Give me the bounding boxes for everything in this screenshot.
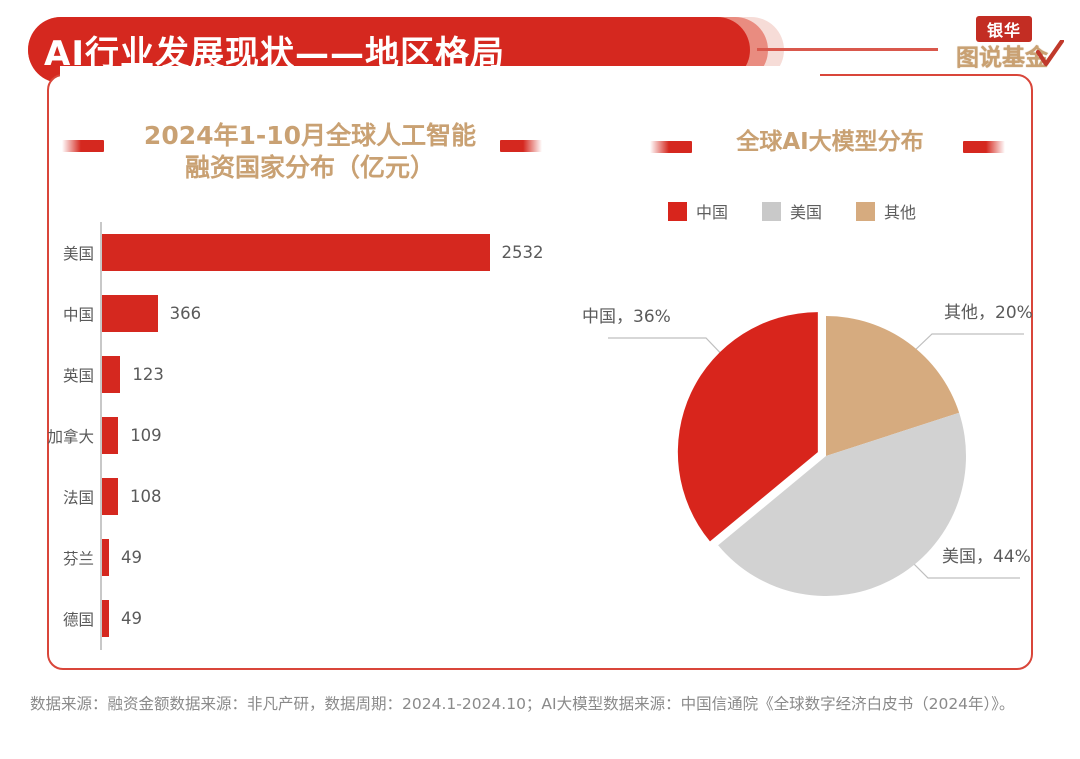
frame-top-gap	[60, 66, 820, 84]
legend-label-other: 其他	[884, 199, 916, 223]
bar-row: 英国123	[30, 344, 570, 405]
bar-fill	[102, 478, 119, 515]
bar-fill	[102, 539, 110, 576]
funding-bar-chart: 美国2532中国366英国123加拿大109法国108芬兰49德国49	[30, 222, 590, 652]
bar-value-label: 2532	[502, 222, 544, 283]
legend-swatch-usa	[762, 202, 781, 221]
legend-item-usa: 美国	[762, 199, 822, 223]
bar-fill	[102, 600, 110, 637]
bar-category-label: 芬兰	[30, 527, 94, 588]
title-dash-left-1	[62, 140, 104, 152]
bar-category-label: 中国	[30, 283, 94, 344]
bar-fill	[102, 417, 119, 454]
pie-svg	[580, 280, 1050, 640]
bar-value-label: 49	[121, 527, 142, 588]
title-dash-left-2	[500, 140, 542, 152]
bar-value-label: 49	[121, 588, 142, 649]
bar-row: 法国108	[30, 466, 570, 527]
bar-category-label: 法国	[30, 466, 94, 527]
legend-swatch-china	[668, 202, 687, 221]
bar-row: 芬兰49	[30, 527, 570, 588]
bar-value-label: 123	[132, 344, 164, 405]
bar-fill	[102, 295, 158, 332]
ai-model-pie-chart: 中国，36% 其他，20% 美国，44%	[580, 280, 1050, 640]
bar-fill	[102, 234, 490, 271]
title-dash-right-1	[650, 141, 692, 153]
infographic-page: AI行业发展现状——地区格局 银华 图说基金 2024年1-10月全球人工智能 …	[0, 0, 1080, 759]
legend-swatch-other	[856, 202, 875, 221]
bar-value-label: 366	[170, 283, 202, 344]
pie-label-china: 中国，36%	[582, 302, 671, 327]
bar-category-label: 加拿大	[30, 405, 94, 466]
bar-row: 美国2532	[30, 222, 570, 283]
bar-value-label: 109	[130, 405, 162, 466]
legend-item-china: 中国	[668, 199, 728, 223]
data-source-note: 数据来源：融资金额数据来源：非凡产研，数据周期：2024.1-2024.10；A…	[30, 692, 1060, 717]
bar-value-label: 108	[130, 466, 162, 527]
bar-row: 德国49	[30, 588, 570, 649]
bar-category-label: 德国	[30, 588, 94, 649]
bar-fill	[102, 356, 121, 393]
bar-category-label: 美国	[30, 222, 94, 283]
legend-item-other: 其他	[856, 199, 916, 223]
bar-category-label: 英国	[30, 344, 94, 405]
left-chart-title: 2024年1-10月全球人工智能 融资国家分布（亿元）	[60, 120, 560, 184]
pie-label-usa: 美国，44%	[942, 542, 1031, 567]
legend-label-usa: 美国	[790, 199, 822, 223]
left-chart-title-line2: 融资国家分布（亿元）	[60, 152, 560, 184]
right-chart-title: 全球AI大模型分布	[660, 128, 1000, 157]
bar-row: 加拿大109	[30, 405, 570, 466]
check-icon	[1036, 40, 1064, 70]
bar-row: 中国366	[30, 283, 570, 344]
title-dash-right-2	[963, 141, 1005, 153]
pie-label-other: 其他，20%	[944, 298, 1033, 323]
left-chart-title-line1: 2024年1-10月全球人工智能	[60, 120, 560, 152]
pie-legend: 中国 美国 其他	[668, 198, 998, 224]
banner-rule	[757, 48, 938, 51]
legend-label-china: 中国	[696, 199, 728, 223]
